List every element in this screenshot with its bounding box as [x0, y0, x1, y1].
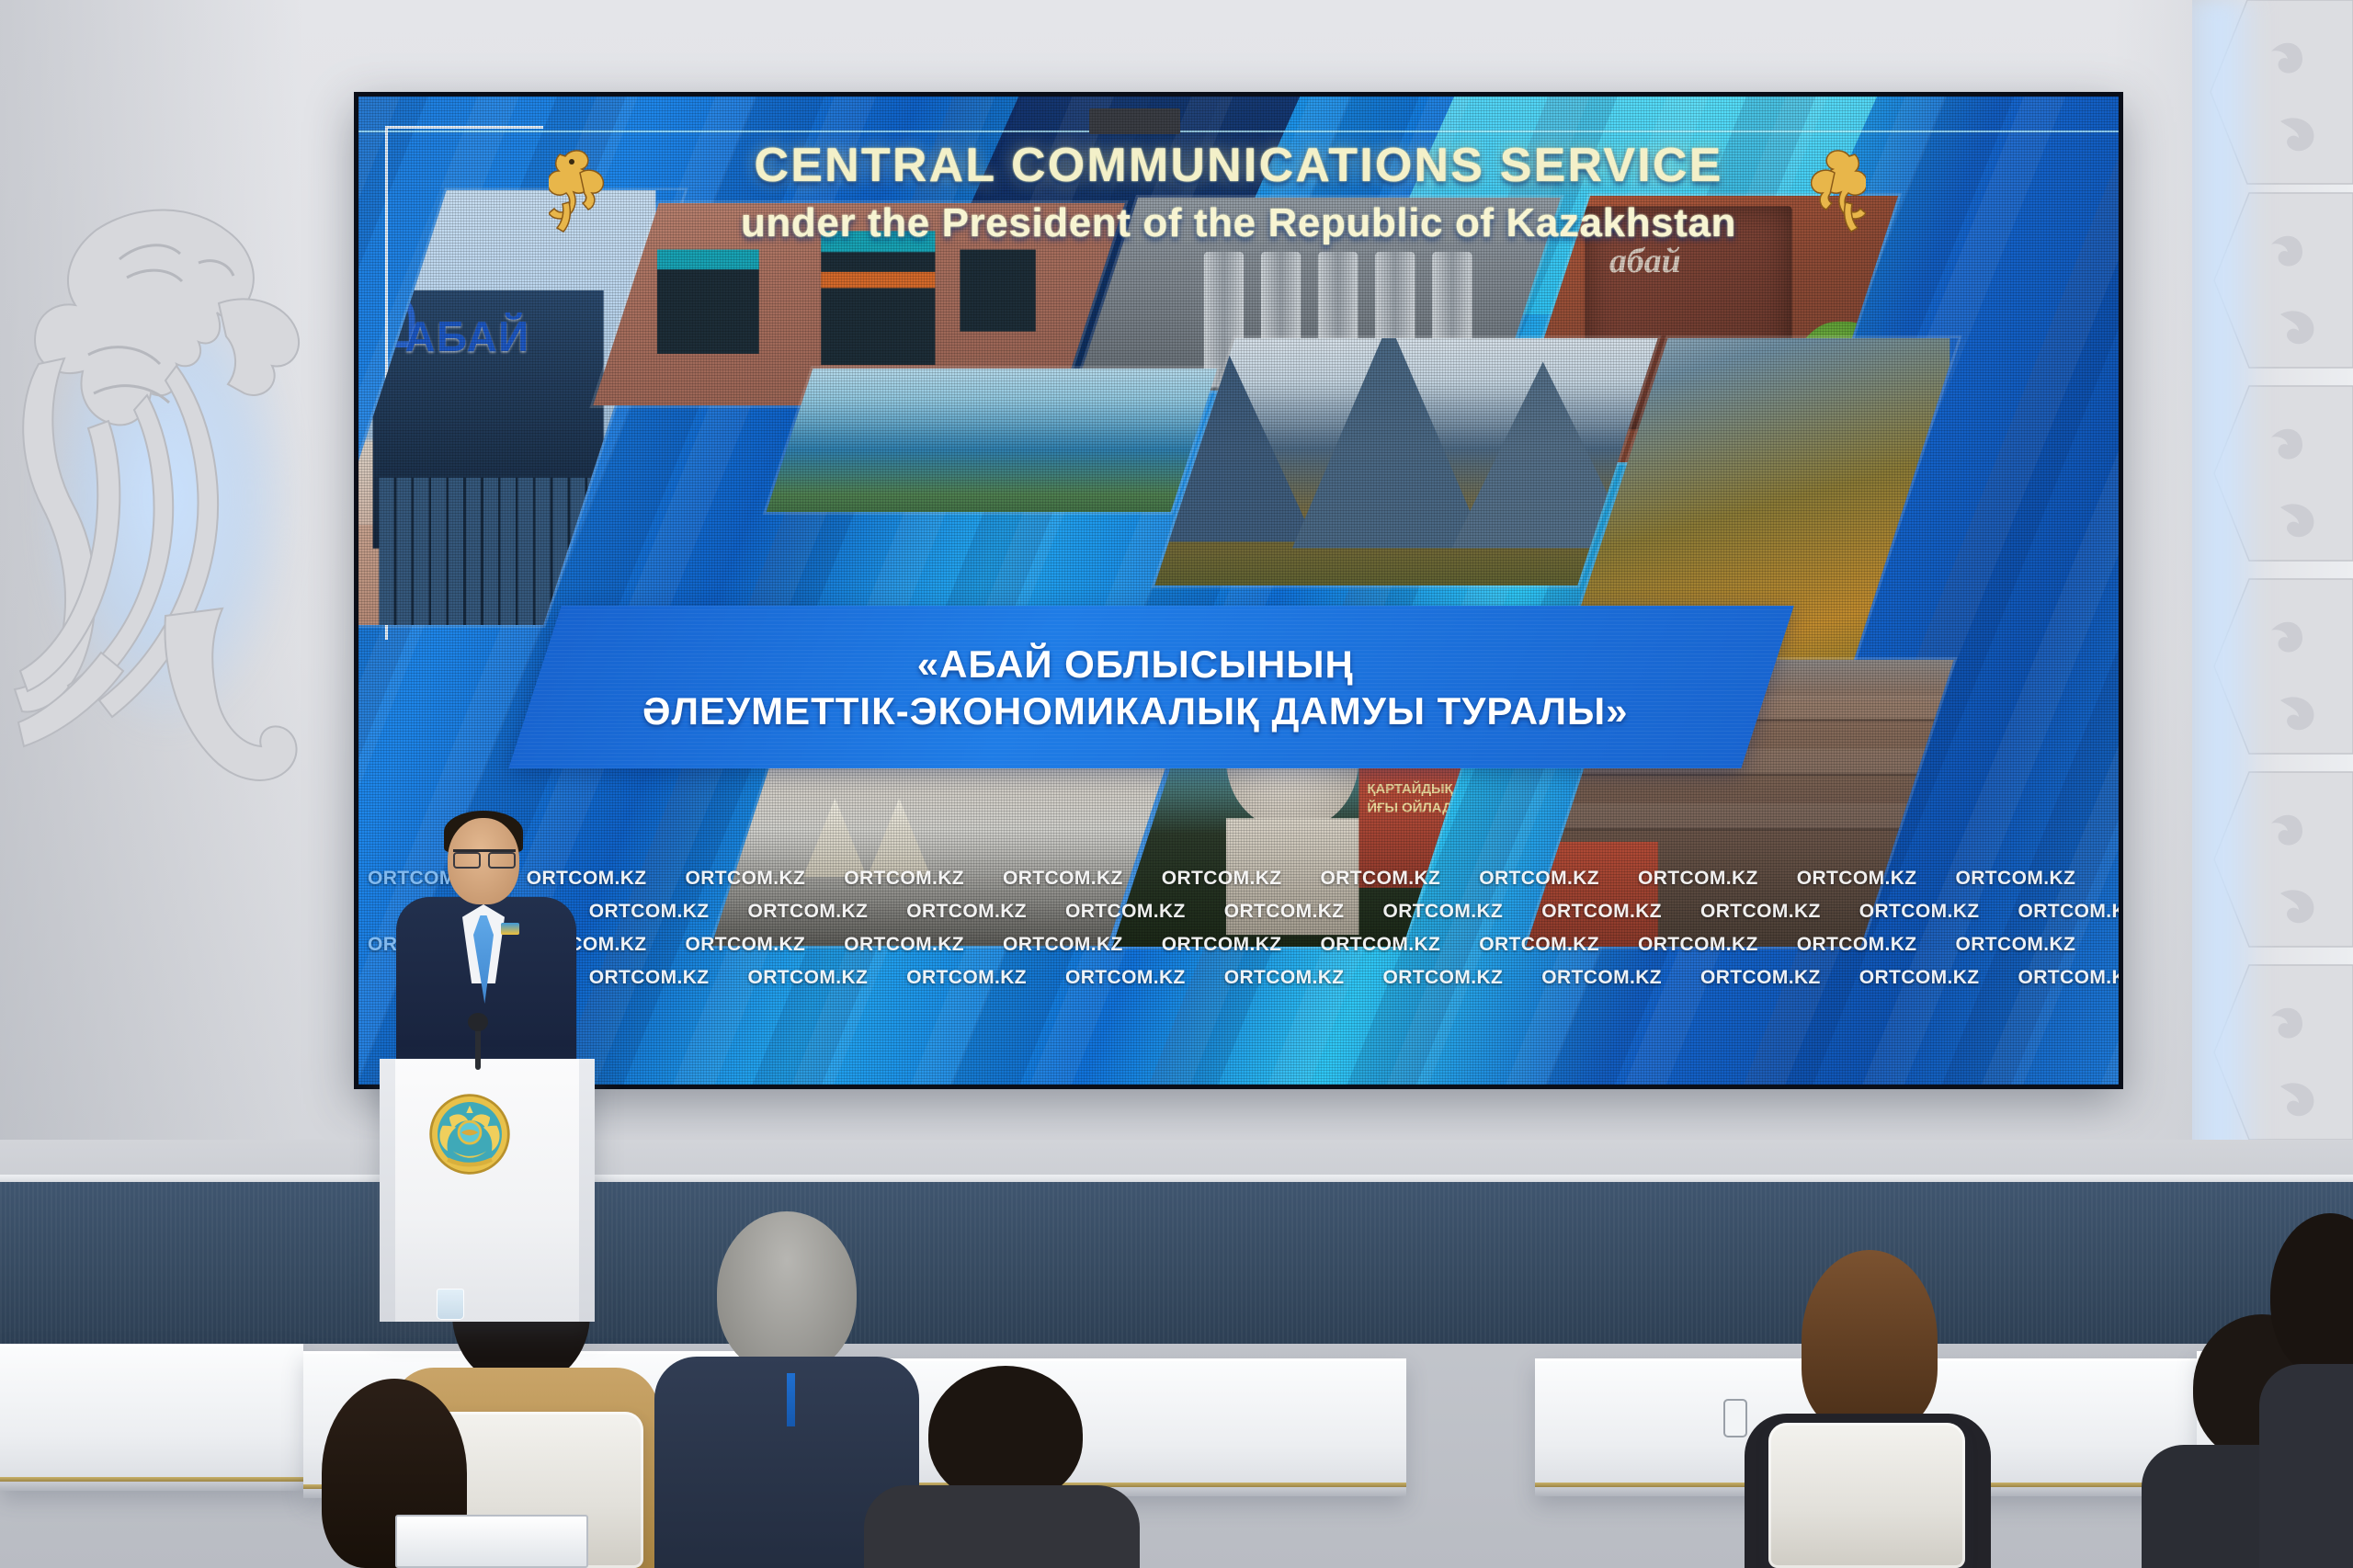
briefing-room-scene: АБАЙ [0, 0, 2353, 1568]
slide-headline-banner: «АБАЙ ОБЛЫСЫНЫҢ ӘЛЕУМЕТТІК-ЭКОНОМИКАЛЫҚ … [508, 606, 1793, 768]
desk-edge [0, 1482, 303, 1491]
audience-member-far-right [2270, 1213, 2353, 1568]
audience-head [928, 1366, 1083, 1504]
stage-skirt [0, 1182, 2353, 1344]
audience-chair-right [1768, 1423, 1965, 1568]
plant-unit-2 [822, 244, 935, 365]
slide-accent-line [358, 131, 2119, 132]
photo-river [767, 369, 1218, 512]
snow-leopard-ornament [9, 175, 313, 818]
screen-sensor-bar [1089, 108, 1181, 134]
book-monument-carved-text: абай [1609, 243, 1681, 282]
audience-lanyard [787, 1373, 795, 1426]
abai-bust-plinth [1226, 818, 1359, 934]
plant-roof-1 [658, 250, 759, 269]
audience-desk-left [0, 1344, 303, 1491]
speaker-lapel-pin [501, 923, 519, 935]
podium [380, 1059, 595, 1322]
audience-head [1802, 1250, 1938, 1430]
audience-torso [2259, 1364, 2353, 1568]
microphone-stem [475, 1026, 481, 1070]
photo-building-sign-text: АБАЙ [405, 313, 530, 362]
plant-unit-3 [960, 250, 1035, 332]
memorial-yurt-2 [867, 799, 931, 878]
plant-stripe [822, 272, 935, 289]
kazakh-ornament-panel [2192, 0, 2353, 1195]
podium-side-right [579, 1059, 595, 1322]
plant-unit-1 [658, 261, 759, 354]
microphone-icon [468, 1013, 488, 1031]
water-glass [437, 1289, 464, 1320]
headline-line-2: ӘЛЕУМЕТТІК-ЭКОНОМИКАЛЫҚ ДАМУЫ ТУРАЛЫ» [618, 687, 1653, 733]
quarry-bench-3 [1527, 803, 1954, 830]
snow-leopard-icon [9, 175, 313, 818]
audience-head [2270, 1213, 2353, 1379]
audience-torso [864, 1485, 1140, 1568]
speaker-and-podium [363, 809, 620, 1324]
audience-head [717, 1211, 857, 1375]
led-slide-surface: АБАЙ [358, 97, 2119, 1085]
headline-line-1: «АБАЙ ОБЛЫСЫНЫҢ [618, 640, 1653, 687]
memorial-yurt-1 [802, 799, 867, 878]
photo-mountains [1154, 338, 1657, 585]
audience-phone [1723, 1399, 1747, 1437]
audience-laptop [395, 1515, 588, 1568]
barys-emblem-right-icon [1811, 145, 1866, 233]
barys-eye-left [569, 159, 574, 165]
kazakhstan-state-emblem-icon [427, 1092, 512, 1176]
speaker-glasses-icon [453, 849, 516, 863]
mountain-peak-2 [1291, 338, 1485, 549]
ornament-panel-backlight [2192, 0, 2266, 1195]
audience-member-dark-suit-center [864, 1366, 1140, 1568]
podium-side-left [380, 1059, 395, 1322]
slide-headline-text: «АБАЙ ОБЛЫСЫНЫҢ ӘЛЕУМЕТТІК-ЭКОНОМИКАЛЫҚ … [618, 640, 1653, 733]
barys-emblem-left-icon [549, 145, 604, 233]
